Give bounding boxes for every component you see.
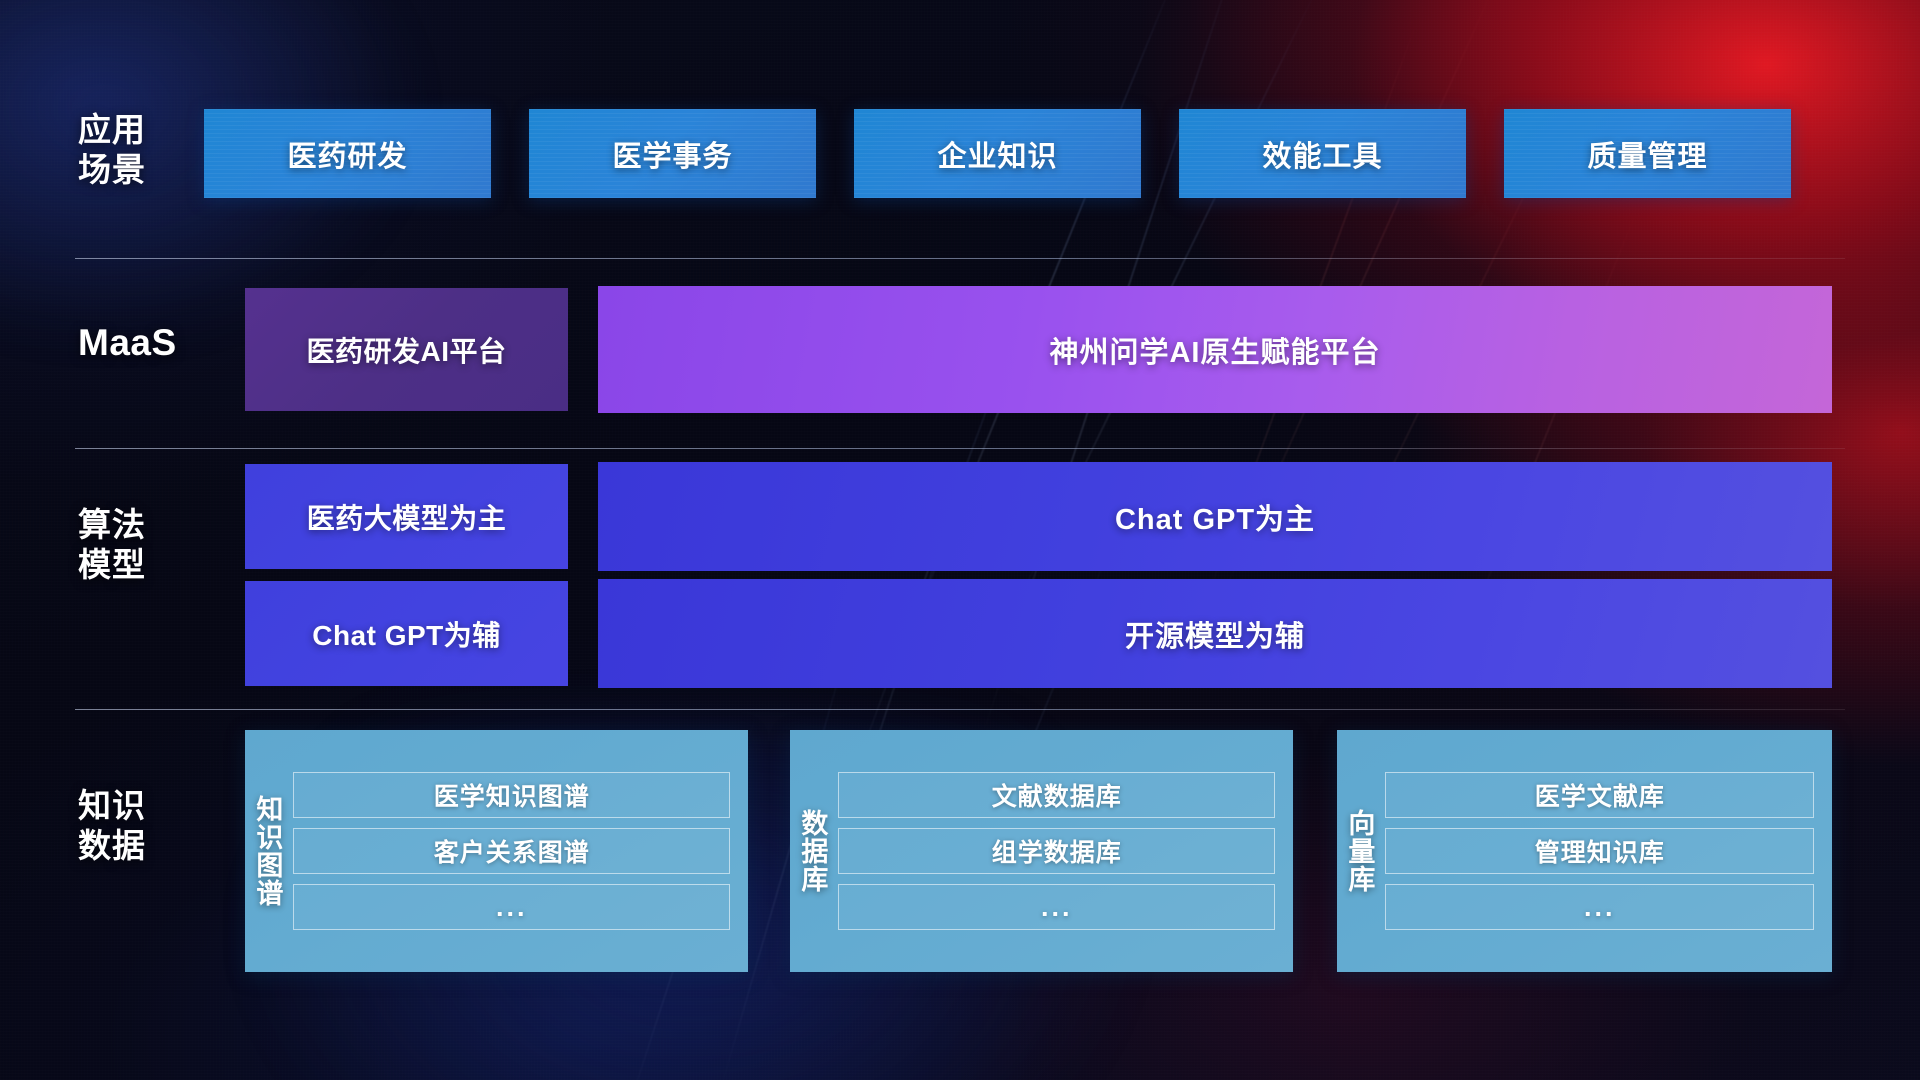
row-label-knowledge-data: 知识 数据: [78, 786, 228, 867]
divider-after-maas: [75, 448, 1845, 449]
algo-box-open-source-secondary[interactable]: 开源模型为辅: [598, 579, 1832, 688]
app-box-efficiency-tools[interactable]: 效能工具: [1179, 109, 1466, 198]
row-label-line-1: 算法: [78, 505, 228, 545]
row-label-line-2: 数据: [78, 826, 228, 866]
app-box-label: 效能工具: [1262, 133, 1382, 175]
knowledge-panel-vector-store[interactable]: 向量库 医学文献库 管理知识库 ...: [1337, 730, 1832, 972]
architecture-diagram: 应用 场景 医药研发 医学事务 企业知识 效能工具 质量管理 MaaS 医药研发…: [0, 0, 1920, 1080]
algo-box-label: 医药大模型为主: [307, 497, 507, 537]
maas-box-shenzhou-wenxue-platform[interactable]: 神州问学AI原生赋能平台: [598, 286, 1832, 413]
app-box-label: 医学事务: [612, 133, 732, 175]
knowledge-item-more[interactable]: ...: [1385, 884, 1814, 930]
app-box-medicine-rnd[interactable]: 医药研发: [204, 109, 491, 198]
row-label-line-1: 知识: [78, 786, 228, 826]
knowledge-panel-knowledge-graph[interactable]: 知识图谱 医学知识图谱 客户关系图谱 ...: [245, 730, 748, 972]
app-box-label: 质量管理: [1587, 133, 1707, 175]
maas-box-label: 神州问学AI原生赋能平台: [1049, 329, 1380, 371]
knowledge-item[interactable]: 管理知识库: [1385, 828, 1814, 874]
app-box-quality-management[interactable]: 质量管理: [1504, 109, 1791, 198]
divider-after-algorithm-model: [75, 709, 1845, 710]
divider-after-application-scenarios: [75, 258, 1845, 259]
algo-box-label: Chat GPT为主: [1115, 496, 1315, 538]
app-box-label: 医药研发: [287, 133, 407, 175]
app-box-enterprise-knowledge[interactable]: 企业知识: [854, 109, 1141, 198]
row-label-maas: MaaS: [78, 320, 228, 365]
maas-box-label: 医药研发AI平台: [306, 330, 506, 370]
algo-box-label: 开源模型为辅: [1125, 613, 1305, 655]
row-label-algorithm-model: 算法 模型: [78, 505, 228, 586]
knowledge-item[interactable]: 组学数据库: [838, 828, 1275, 874]
knowledge-item[interactable]: 医学知识图谱: [293, 772, 730, 818]
algo-box-medicine-large-model-primary[interactable]: 医药大模型为主: [245, 464, 568, 569]
algo-box-label: Chat GPT为辅: [312, 614, 501, 654]
knowledge-panel-database[interactable]: 数据库 文献数据库 组学数据库 ...: [790, 730, 1293, 972]
knowledge-item[interactable]: 医学文献库: [1385, 772, 1814, 818]
knowledge-panel-items: 医学知识图谱 客户关系图谱 ...: [289, 730, 748, 972]
knowledge-item[interactable]: 文献数据库: [838, 772, 1275, 818]
knowledge-item-more[interactable]: ...: [293, 884, 730, 930]
knowledge-panel-title: 向量库: [1337, 730, 1381, 972]
maas-box-medicine-rnd-ai-platform[interactable]: 医药研发AI平台: [245, 288, 568, 411]
knowledge-item[interactable]: 客户关系图谱: [293, 828, 730, 874]
row-label-line-1: MaaS: [78, 320, 228, 365]
row-label-line-2: 模型: [78, 545, 228, 585]
knowledge-item-more[interactable]: ...: [838, 884, 1275, 930]
knowledge-panel-title: 知识图谱: [245, 730, 289, 972]
algo-box-chatgpt-secondary[interactable]: Chat GPT为辅: [245, 581, 568, 686]
app-box-medical-affairs[interactable]: 医学事务: [529, 109, 816, 198]
knowledge-panel-title: 数据库: [790, 730, 834, 972]
algo-box-chatgpt-primary[interactable]: Chat GPT为主: [598, 462, 1832, 571]
knowledge-panel-items: 医学文献库 管理知识库 ...: [1381, 730, 1832, 972]
app-box-label: 企业知识: [937, 133, 1057, 175]
knowledge-panel-items: 文献数据库 组学数据库 ...: [834, 730, 1293, 972]
